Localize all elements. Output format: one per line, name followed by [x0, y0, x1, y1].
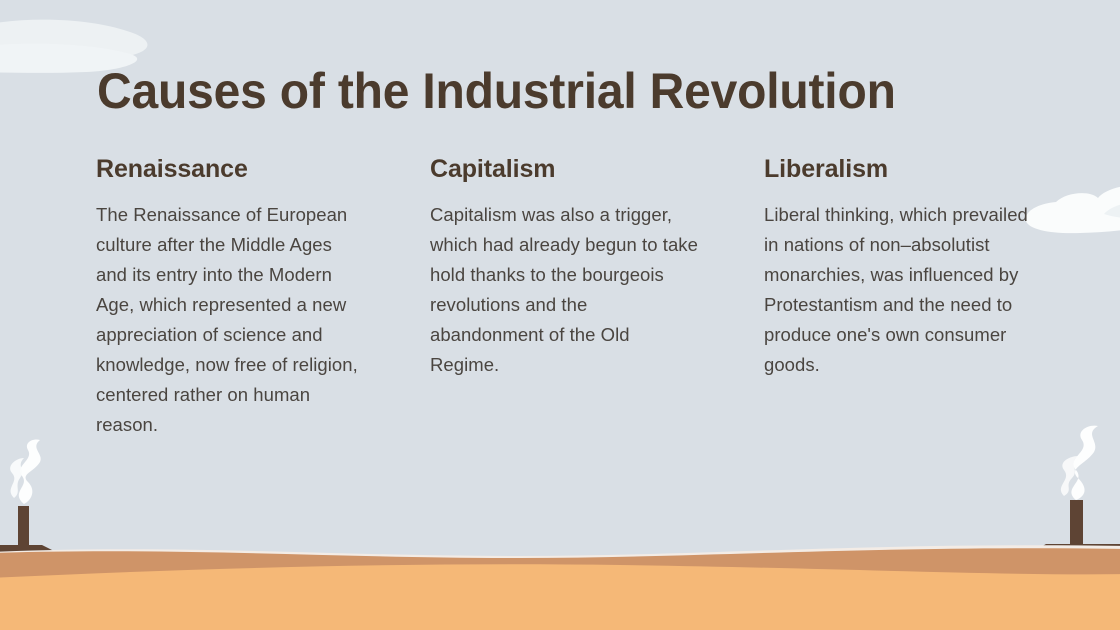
- column-body-renaissance: The Renaissance of European culture afte…: [96, 200, 368, 440]
- column-heading-capitalism: Capitalism: [430, 156, 702, 184]
- slide-canvas: Causes of the Industrial Revolution Rena…: [0, 0, 1120, 630]
- column-body-capitalism: Capitalism was also a trigger, which had…: [430, 200, 702, 380]
- column-liberalism: Liberalism Liberal thinking, which preva…: [764, 156, 1036, 380]
- slide-content: Causes of the Industrial Revolution Rena…: [0, 0, 1120, 630]
- column-renaissance: Renaissance The Renaissance of European …: [96, 156, 368, 440]
- column-heading-renaissance: Renaissance: [96, 156, 368, 184]
- column-heading-liberalism: Liberalism: [764, 156, 1036, 184]
- column-body-liberalism: Liberal thinking, which prevailed in nat…: [764, 200, 1036, 380]
- column-capitalism: Capitalism Capitalism was also a trigger…: [430, 156, 702, 380]
- page-title: Causes of the Industrial Revolution: [97, 64, 896, 118]
- columns-container: Renaissance The Renaissance of European …: [96, 156, 1036, 440]
